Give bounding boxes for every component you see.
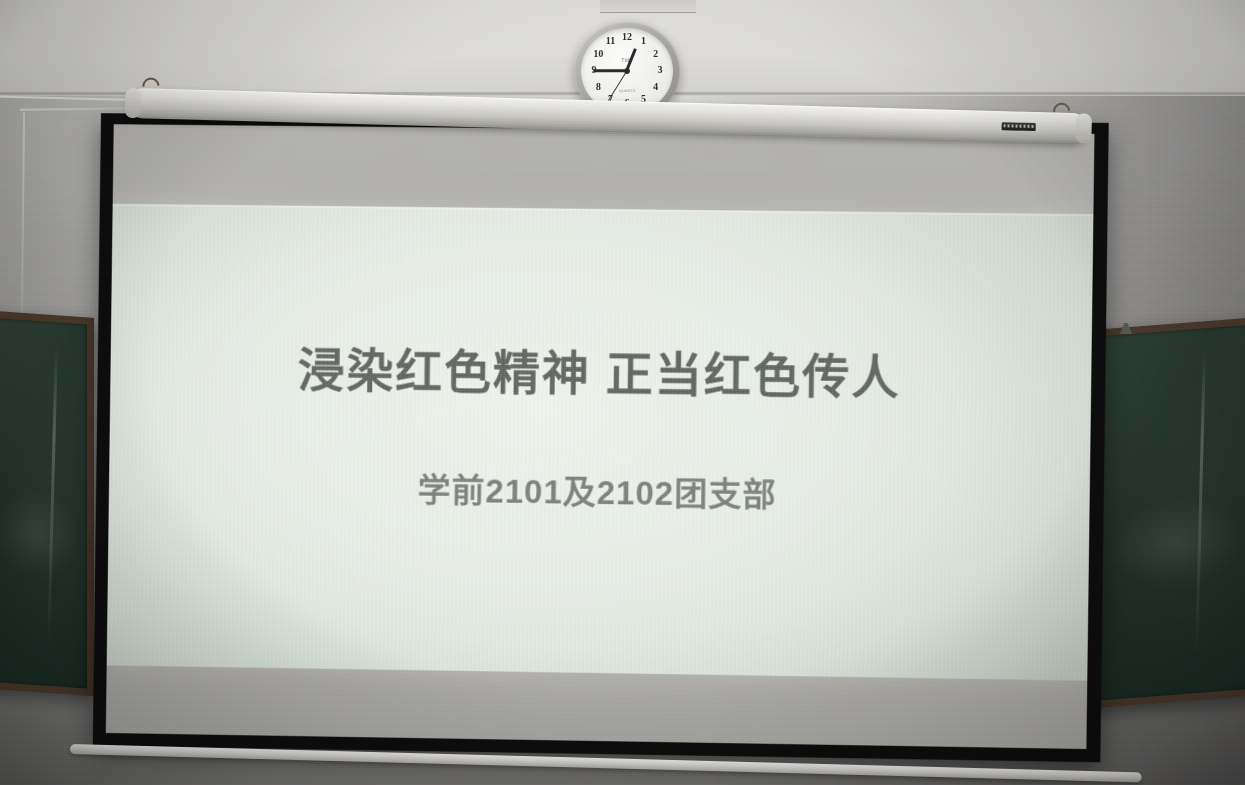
slide-subtitle: 学前2101及2102团支部: [417, 464, 776, 517]
clock-minute-hand: [593, 70, 627, 73]
clock-second-hand: [608, 71, 628, 101]
projection-screen: 浸染红色精神 正当红色传人 学前2101及2102团支部: [94, 118, 1102, 754]
slide-content: 浸染红色精神 正当红色传人 学前2101及2102团支部: [107, 204, 1094, 681]
clock-numeral-2: 2: [649, 49, 663, 61]
clock-numeral-3: 3: [653, 65, 667, 77]
clock-numeral-4: 4: [649, 82, 663, 94]
clock-numeral-1: 1: [637, 36, 651, 48]
blackboard-right: [1092, 317, 1245, 708]
clock-sub-label: QUARTZ: [619, 88, 635, 93]
projection-screen-plane: 浸染红色精神 正当红色传人 学前2101及2102团支部: [93, 113, 1109, 762]
slide-title: 浸染红色精神 正当红色传人: [297, 331, 901, 407]
ceiling-panel: [600, 0, 696, 13]
blackboard-left: [0, 310, 94, 696]
blackboard-left-frame: [0, 310, 94, 696]
clock-numeral-12: 12: [620, 32, 634, 44]
classroom-scene: Tide QUARTZ 121234567891011: [0, 0, 1245, 785]
clock-center-pin: [624, 68, 630, 74]
projection-screen-surface: 浸染红色精神 正当红色传人 学前2101及2102团支部: [106, 124, 1095, 749]
roller-end-cap-right: [1075, 113, 1092, 143]
clock-numeral-8: 8: [591, 82, 605, 94]
clock-numeral-10: 10: [591, 49, 605, 61]
projected-slide: 浸染红色精神 正当红色传人 学前2101及2102团支部: [107, 204, 1094, 681]
clock-numeral-11: 11: [604, 36, 618, 48]
roller-brand-badge: [1002, 122, 1036, 131]
roller-end-cap-left: [125, 88, 142, 118]
blackboard-right-frame: [1092, 317, 1245, 708]
